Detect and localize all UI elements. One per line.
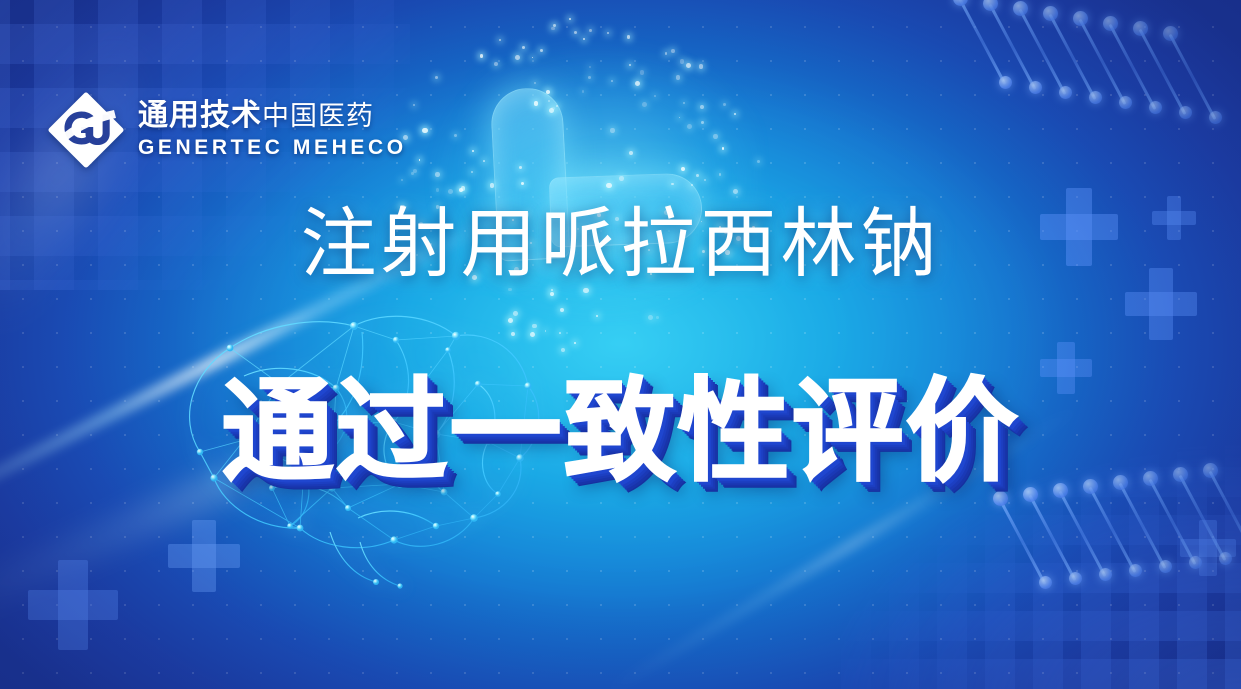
particle-dot (422, 128, 428, 134)
particle-dot (691, 184, 693, 186)
particle-dot (574, 31, 577, 34)
dna-node (1149, 101, 1162, 114)
poster-canvas: 通用技术中国医药 GENERTEC MEHECO 注射用哌拉西林钠 通过一致性评… (0, 0, 1241, 689)
dna-helix-icon (1000, 470, 1241, 680)
particle-dot (589, 29, 592, 32)
particle-dot (480, 54, 483, 57)
particle-dot (574, 342, 576, 344)
particle-dot (471, 171, 473, 173)
dna-node (1159, 560, 1172, 573)
headline-container: 通过一致性评价 (0, 376, 1241, 488)
brand-logo[interactable]: 通用技术中国医药 GENERTEC MEHECO (48, 92, 407, 168)
particle-dot (654, 95, 656, 97)
particle-dot (534, 101, 539, 106)
particle-dot (686, 63, 692, 69)
particle-dot (640, 70, 645, 75)
dna-node (1129, 564, 1142, 577)
dna-node (1043, 6, 1058, 21)
dna-node (1103, 16, 1118, 31)
particle-dot (687, 124, 692, 129)
particle-dot (699, 64, 704, 69)
particle-dot (680, 59, 685, 64)
dna-rung (989, 4, 1037, 90)
particle-dot (696, 174, 699, 177)
brand-name-en: GENERTEC MEHECO (138, 136, 407, 160)
particle-dot (583, 288, 589, 294)
particle-dot (401, 179, 403, 181)
particle-dot (596, 315, 598, 317)
dna-node (1133, 21, 1148, 36)
dna-rung (1079, 19, 1127, 105)
particle-dot (719, 173, 722, 176)
dna-rung (1049, 14, 1097, 100)
particle-dot (676, 75, 681, 80)
particle-dot (413, 104, 416, 107)
brand-name-cn: 通用技术中国医药 (138, 100, 407, 132)
dna-node (1073, 11, 1088, 26)
particle-dot (619, 176, 624, 181)
dna-rung (1169, 34, 1217, 120)
particle-dot (483, 160, 485, 162)
particle-dot (701, 121, 704, 124)
dna-node (1163, 26, 1178, 41)
dna-node (999, 76, 1012, 89)
particle-dot (629, 151, 633, 155)
particle-dot (610, 128, 614, 132)
particle-dot (713, 134, 718, 139)
particle-dot (671, 49, 675, 53)
particle-dot (551, 289, 553, 291)
particle-dot (627, 35, 631, 39)
dna-node (1013, 1, 1028, 16)
dna-rung (1139, 29, 1187, 115)
headline-text: 通过一致性评价 (222, 376, 1020, 488)
particle-dot (499, 39, 501, 41)
genertec-diamond-gu-logo-icon (48, 92, 124, 168)
light-streak-icon (0, 20, 174, 337)
dna-node (1189, 556, 1202, 569)
dna-node (1209, 111, 1222, 124)
particle-dot (519, 166, 522, 169)
particle-dot (472, 150, 474, 152)
particle-dot (490, 183, 494, 187)
particle-dot (540, 49, 543, 52)
dna-node (1219, 552, 1232, 565)
dna-rung (1109, 24, 1157, 110)
medical-cross-icon (28, 560, 118, 650)
particle-dot (413, 169, 417, 173)
particle-dot (435, 76, 438, 79)
dna-node (1059, 86, 1072, 99)
particle-dot (556, 105, 558, 107)
particle-dot (665, 52, 667, 54)
brand-logo-text: 通用技术中国医药 GENERTEC MEHECO (138, 100, 407, 161)
particle-dot (435, 172, 440, 177)
dna-rung (959, 0, 1007, 85)
dna-helix-icon (960, 0, 1241, 200)
product-name-subtitle: 注射用哌拉西林钠 (0, 207, 1241, 283)
dna-node (1029, 81, 1042, 94)
particle-dot (419, 159, 421, 161)
dna-node (1069, 572, 1082, 585)
particle-dot (642, 102, 647, 107)
particle-dot (534, 82, 536, 84)
particle-dot (656, 316, 659, 319)
particle-dot (508, 288, 512, 292)
particle-dot (757, 160, 760, 163)
dna-node (983, 0, 998, 11)
dna-node (953, 0, 968, 6)
particle-dot (569, 18, 571, 20)
brand-name-cn-strong: 通用技术 (138, 99, 262, 132)
dna-node (1023, 487, 1038, 502)
dna-node (1119, 96, 1132, 109)
particle-dot (606, 183, 611, 188)
particle-dot (607, 32, 609, 34)
dna-rung (1019, 9, 1067, 95)
particle-dot (448, 189, 453, 194)
particle-dot (436, 188, 440, 192)
dna-node (1179, 106, 1192, 119)
dna-node (1099, 568, 1112, 581)
particle-dot (588, 76, 591, 79)
dna-node (1039, 576, 1052, 589)
brand-name-cn-soft: 中国医药 (262, 101, 374, 131)
particle-dot (551, 27, 554, 30)
dna-node (1089, 91, 1102, 104)
